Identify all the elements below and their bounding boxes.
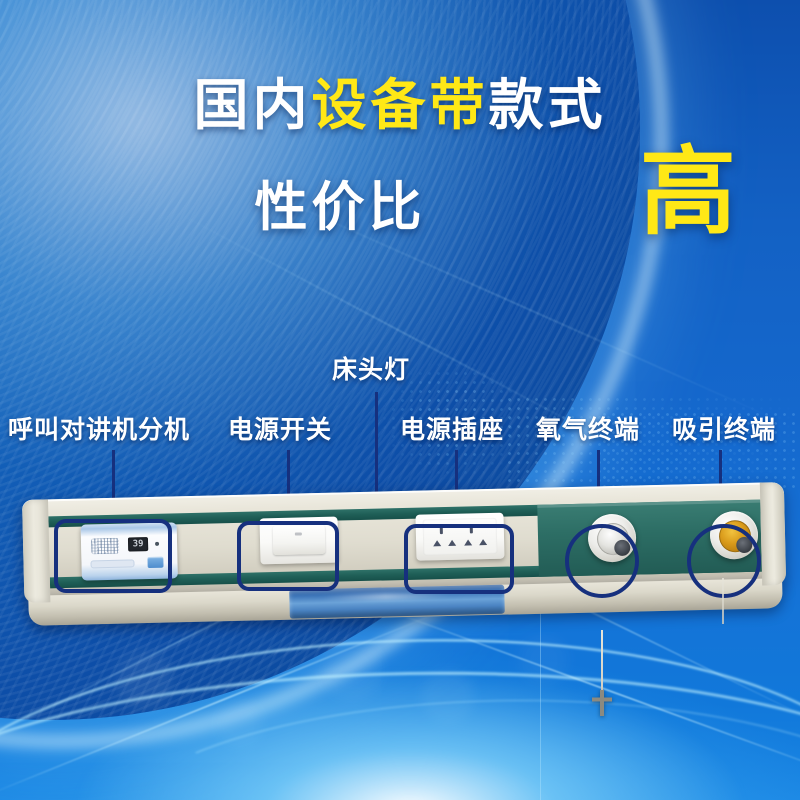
- headline-part-2-highlight: 设备带: [311, 74, 488, 136]
- callout-label-suction-terminal: 吸引终端: [672, 418, 776, 443]
- headline: 国内设备带款式: [0, 78, 800, 133]
- headline-part-1: 国内: [193, 74, 311, 136]
- highlight-box-power-socket: [404, 524, 514, 594]
- callout-label-power-switch: 电源开关: [228, 418, 332, 443]
- callout-label-power-socket: 电源插座: [400, 418, 504, 443]
- pull-cord[interactable]: [601, 630, 603, 698]
- emphasis-character: 高: [640, 145, 736, 241]
- pull-cord-handle-icon[interactable]: [592, 690, 612, 716]
- highlight-circle-suction-terminal: [687, 524, 761, 598]
- grid-line-1: [540, 600, 541, 800]
- highlight-box-power-switch: [237, 521, 339, 591]
- callout-label-bed-head-lamp: 床头灯: [332, 358, 410, 383]
- highlight-box-nurse-call-intercom: [54, 519, 172, 593]
- callout-label-oxygen-terminal: 氧气终端: [536, 418, 640, 443]
- promo-banner: 国内设备带款式 性价比 高 呼叫对讲机分机 电源开关 床头灯 电源插座 氧气终端…: [0, 0, 800, 800]
- highlight-circle-oxygen-terminal: [565, 524, 639, 598]
- unit-end-cap-right: [760, 482, 786, 586]
- subheadline: 性价比: [60, 165, 620, 241]
- headline-part-3: 款式: [489, 74, 607, 136]
- unit-end-cap-left: [22, 499, 50, 603]
- callout-label-nurse-call-intercom: 呼叫对讲机分机: [8, 418, 190, 443]
- suction-port-tail: [722, 578, 724, 624]
